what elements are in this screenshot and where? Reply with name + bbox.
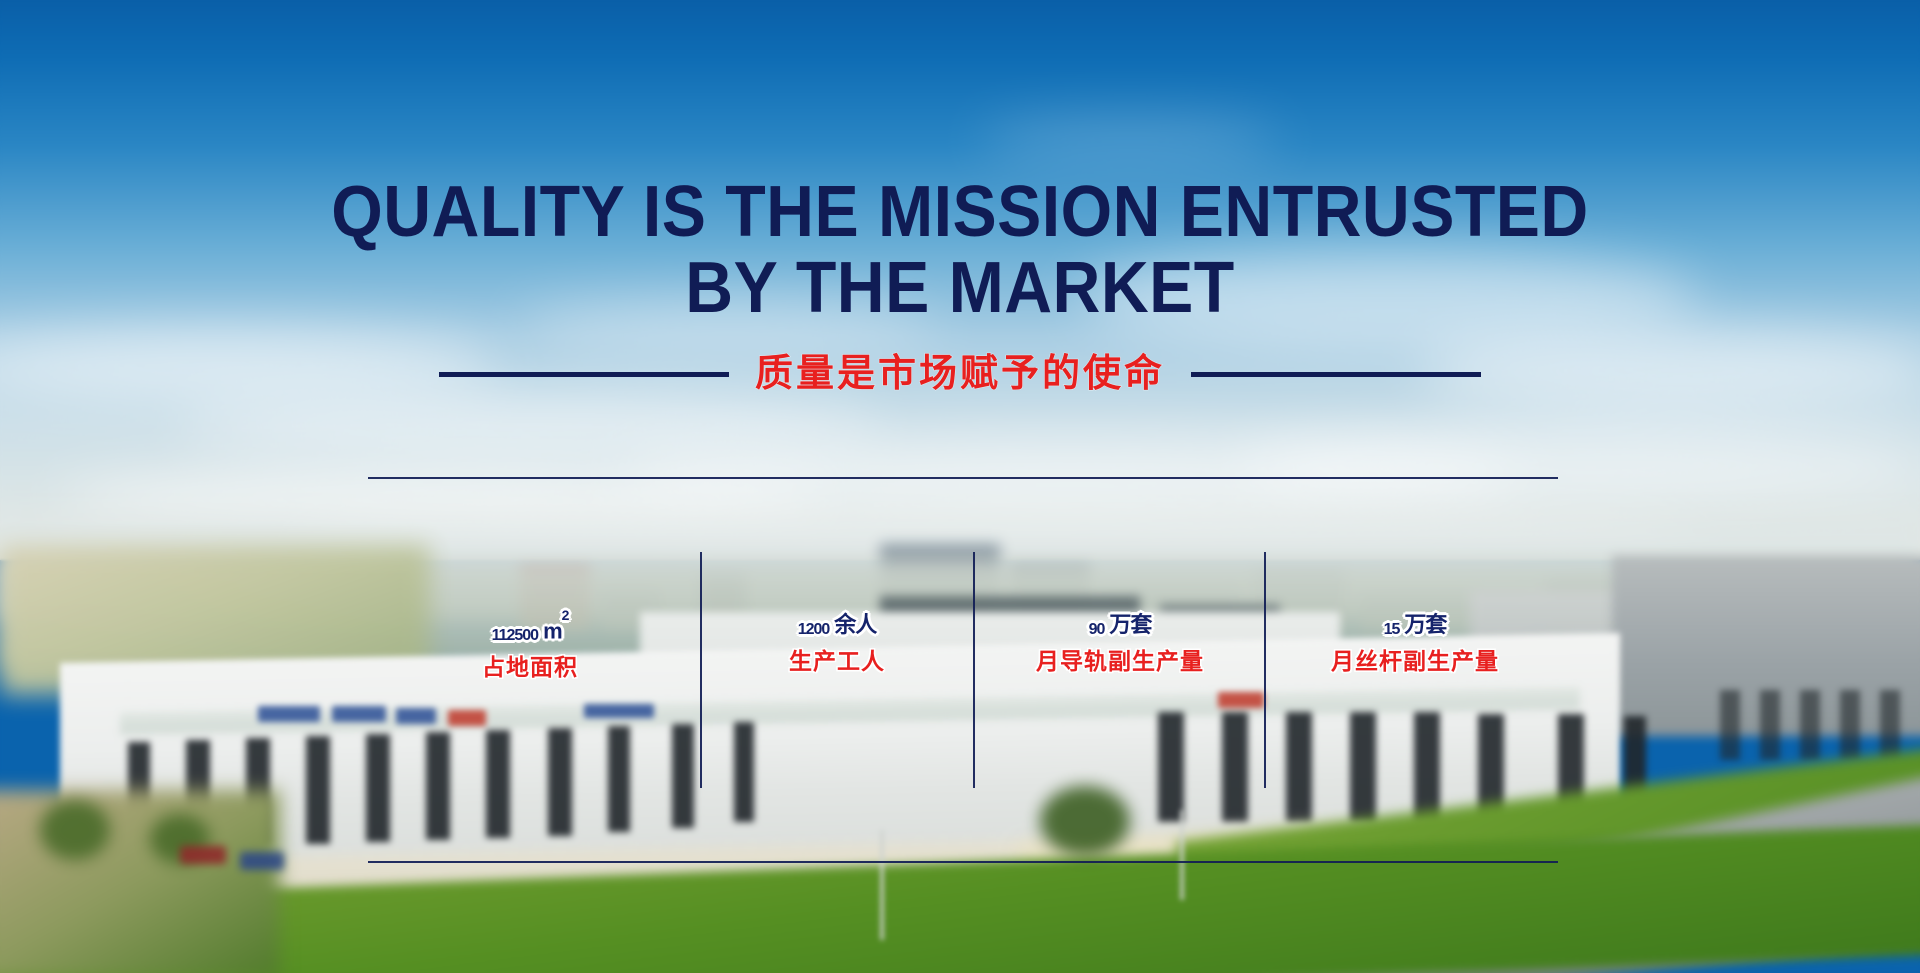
stat-unit: 万套 [1109,614,1151,636]
stat-value: 112500 [492,627,539,645]
stat-unit: 余人 [834,614,876,636]
stat-item: 112500 m2 占地面积 [380,616,680,680]
stat-item: 90 万套 月导轨副生产量 [980,616,1260,674]
stat-unit: 万套 [1404,614,1446,636]
stat-item: 15 万套 月丝杆副生产量 [1270,616,1560,674]
stat-unit: m2 [543,614,568,642]
stat-label: 月丝杆副生产量 [1270,648,1560,674]
promo-banner: QUALITY IS THE MISSION ENTRUSTED BY THE … [0,0,1920,973]
stat-item: 1200 余人 生产工人 [706,616,968,674]
stat-label: 生产工人 [706,648,968,674]
stat-label: 月导轨副生产量 [980,648,1260,674]
stat-label: 占地面积 [380,654,680,680]
stat-number: 112500 m2 [380,616,680,645]
stat-number: 1200 余人 [706,616,968,639]
stats-row: 112500 m2 占地面积 1200 余人 生产工人 90 万套 月导轨副生产… [0,0,1920,973]
stat-value: 1200 [798,621,830,639]
banner-content: QUALITY IS THE MISSION ENTRUSTED BY THE … [0,0,1920,973]
stat-value: 15 [1384,621,1400,639]
stat-value: 90 [1089,621,1105,639]
stat-number: 90 万套 [980,616,1260,639]
stat-number: 15 万套 [1270,616,1560,639]
